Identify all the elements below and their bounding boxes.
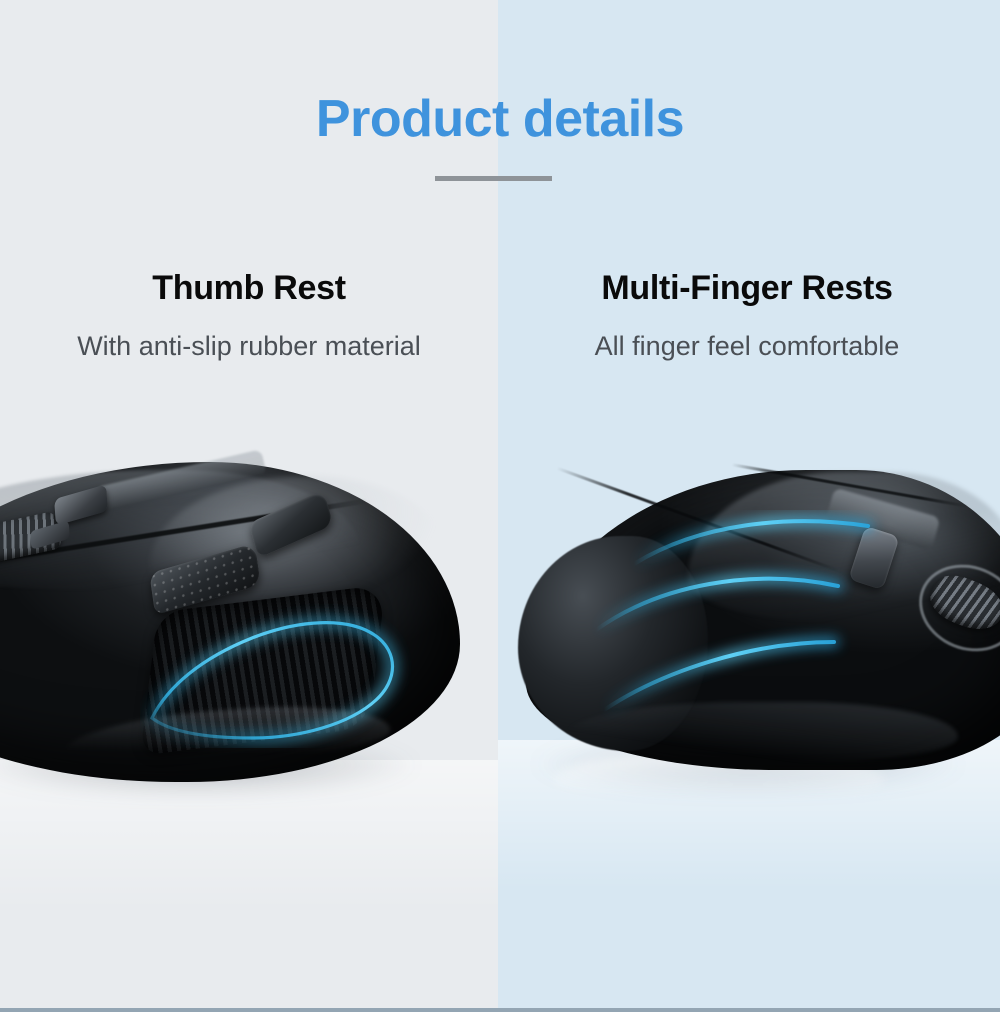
finger-rest-glow-highlights — [538, 510, 958, 760]
thumb-rest-glow-highlight — [140, 566, 412, 748]
product-photo-multi-finger-rests — [498, 440, 1000, 870]
finger-groove-arc-3 — [604, 642, 834, 710]
product-details-page: Product details Thumb Rest With anti-sli… — [0, 0, 1000, 1012]
feature-heading: Multi-Finger Rests — [498, 268, 996, 308]
product-photo-thumb-rest — [0, 440, 498, 870]
bottom-border-rule — [0, 1008, 1000, 1012]
feature-subtitle: All finger feel comfortable — [498, 330, 996, 362]
feature-heading: Thumb Rest — [0, 268, 498, 308]
page-title: Product details — [0, 92, 1000, 147]
feature-block-thumb-rest: Thumb Rest With anti-slip rubber materia… — [0, 268, 498, 363]
title-divider-rule — [435, 176, 552, 181]
feature-block-multi-finger-rests: Multi-Finger Rests All finger feel comfo… — [498, 268, 996, 363]
finger-groove-arc-2 — [596, 579, 838, 630]
finger-groove-arc-1 — [634, 521, 868, 564]
feature-subtitle: With anti-slip rubber material — [0, 330, 498, 362]
